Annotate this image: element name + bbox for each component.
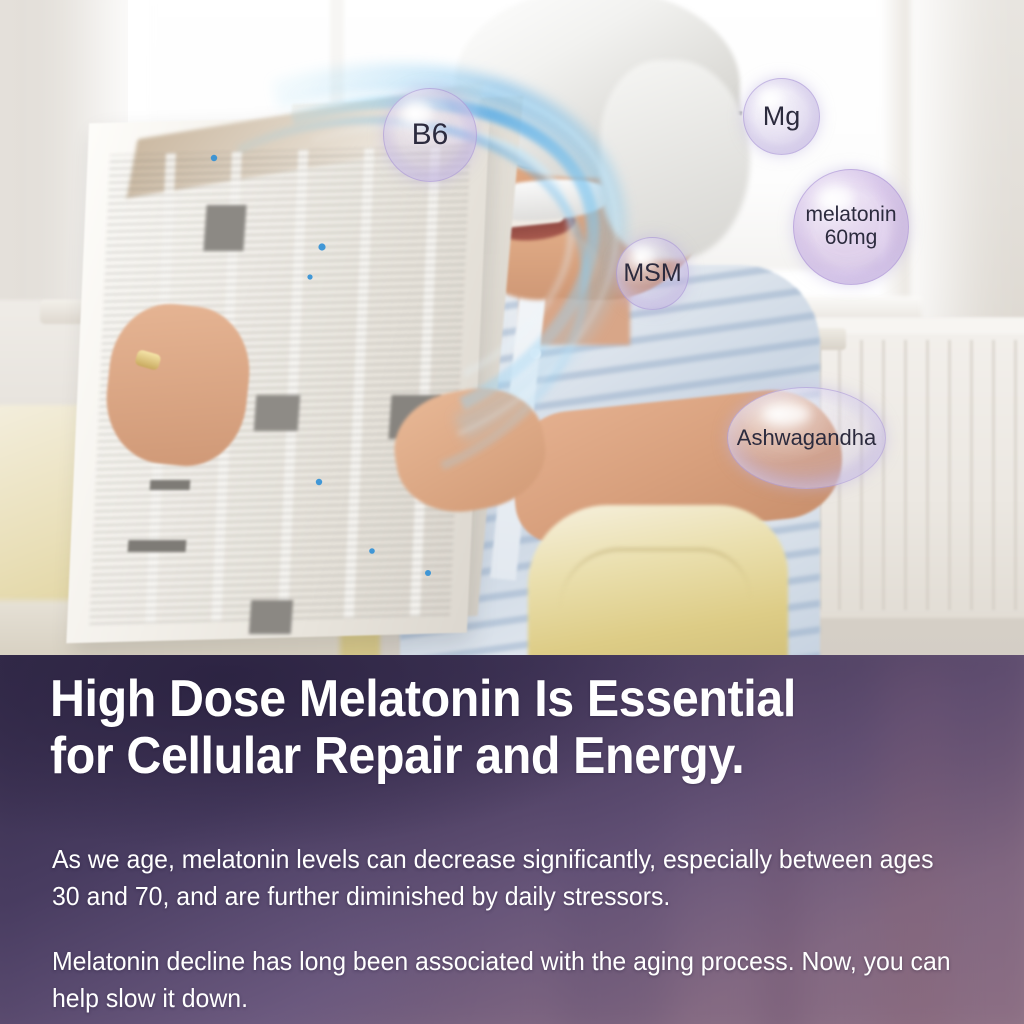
newspaper-photo-4 — [249, 600, 293, 634]
body-paragraph-1: As we age, melatonin levels can decrease… — [52, 841, 959, 915]
bubble-ashwagandha-label: Ashwagandha — [737, 426, 876, 450]
newspaper-photo-2 — [254, 395, 301, 431]
product-infographic: B6 Mg melatonin 60mg MSM Ashwagandha Hig… — [0, 0, 1024, 1024]
newspaper-photo-1 — [203, 205, 246, 251]
newspaper-headline-1 — [128, 540, 187, 552]
bubble-ashwagandha[interactable]: Ashwagandha — [727, 387, 886, 489]
bubble-melatonin-line1: melatonin — [805, 203, 896, 226]
bubble-melatonin-60mg[interactable]: melatonin 60mg — [793, 169, 909, 285]
bubble-msm-label: MSM — [623, 260, 681, 287]
bubble-b6-label: B6 — [412, 119, 449, 151]
bubble-mg[interactable]: Mg — [743, 78, 820, 155]
armchair-arm-seam — [560, 548, 750, 660]
bubble-melatonin-label: melatonin 60mg — [805, 204, 896, 249]
hero-photo: B6 Mg melatonin 60mg MSM Ashwagandha — [0, 0, 1024, 660]
bubble-mg-label: Mg — [763, 102, 801, 131]
headline-line-1: High Dose Melatonin Is Essential — [50, 670, 796, 728]
banner-content: High Dose Melatonin Is Essential for Cel… — [0, 655, 1024, 1024]
text-banner: High Dose Melatonin Is Essential for Cel… — [0, 655, 1024, 1024]
headline-line-2: for Cellular Repair and Energy. — [50, 728, 915, 785]
shirt-button-top — [530, 348, 541, 359]
bubble-melatonin-line2: 60mg — [825, 226, 878, 249]
bubble-msm[interactable]: MSM — [616, 237, 689, 310]
newspaper-headline-2 — [150, 480, 191, 490]
bubble-b6[interactable]: B6 — [383, 88, 477, 182]
headline: High Dose Melatonin Is Essential for Cel… — [50, 671, 915, 785]
radiator-left-valve — [40, 300, 86, 324]
white-hair-back — [600, 60, 750, 260]
body-paragraph-2: Melatonin decline has long been associat… — [52, 943, 959, 1017]
